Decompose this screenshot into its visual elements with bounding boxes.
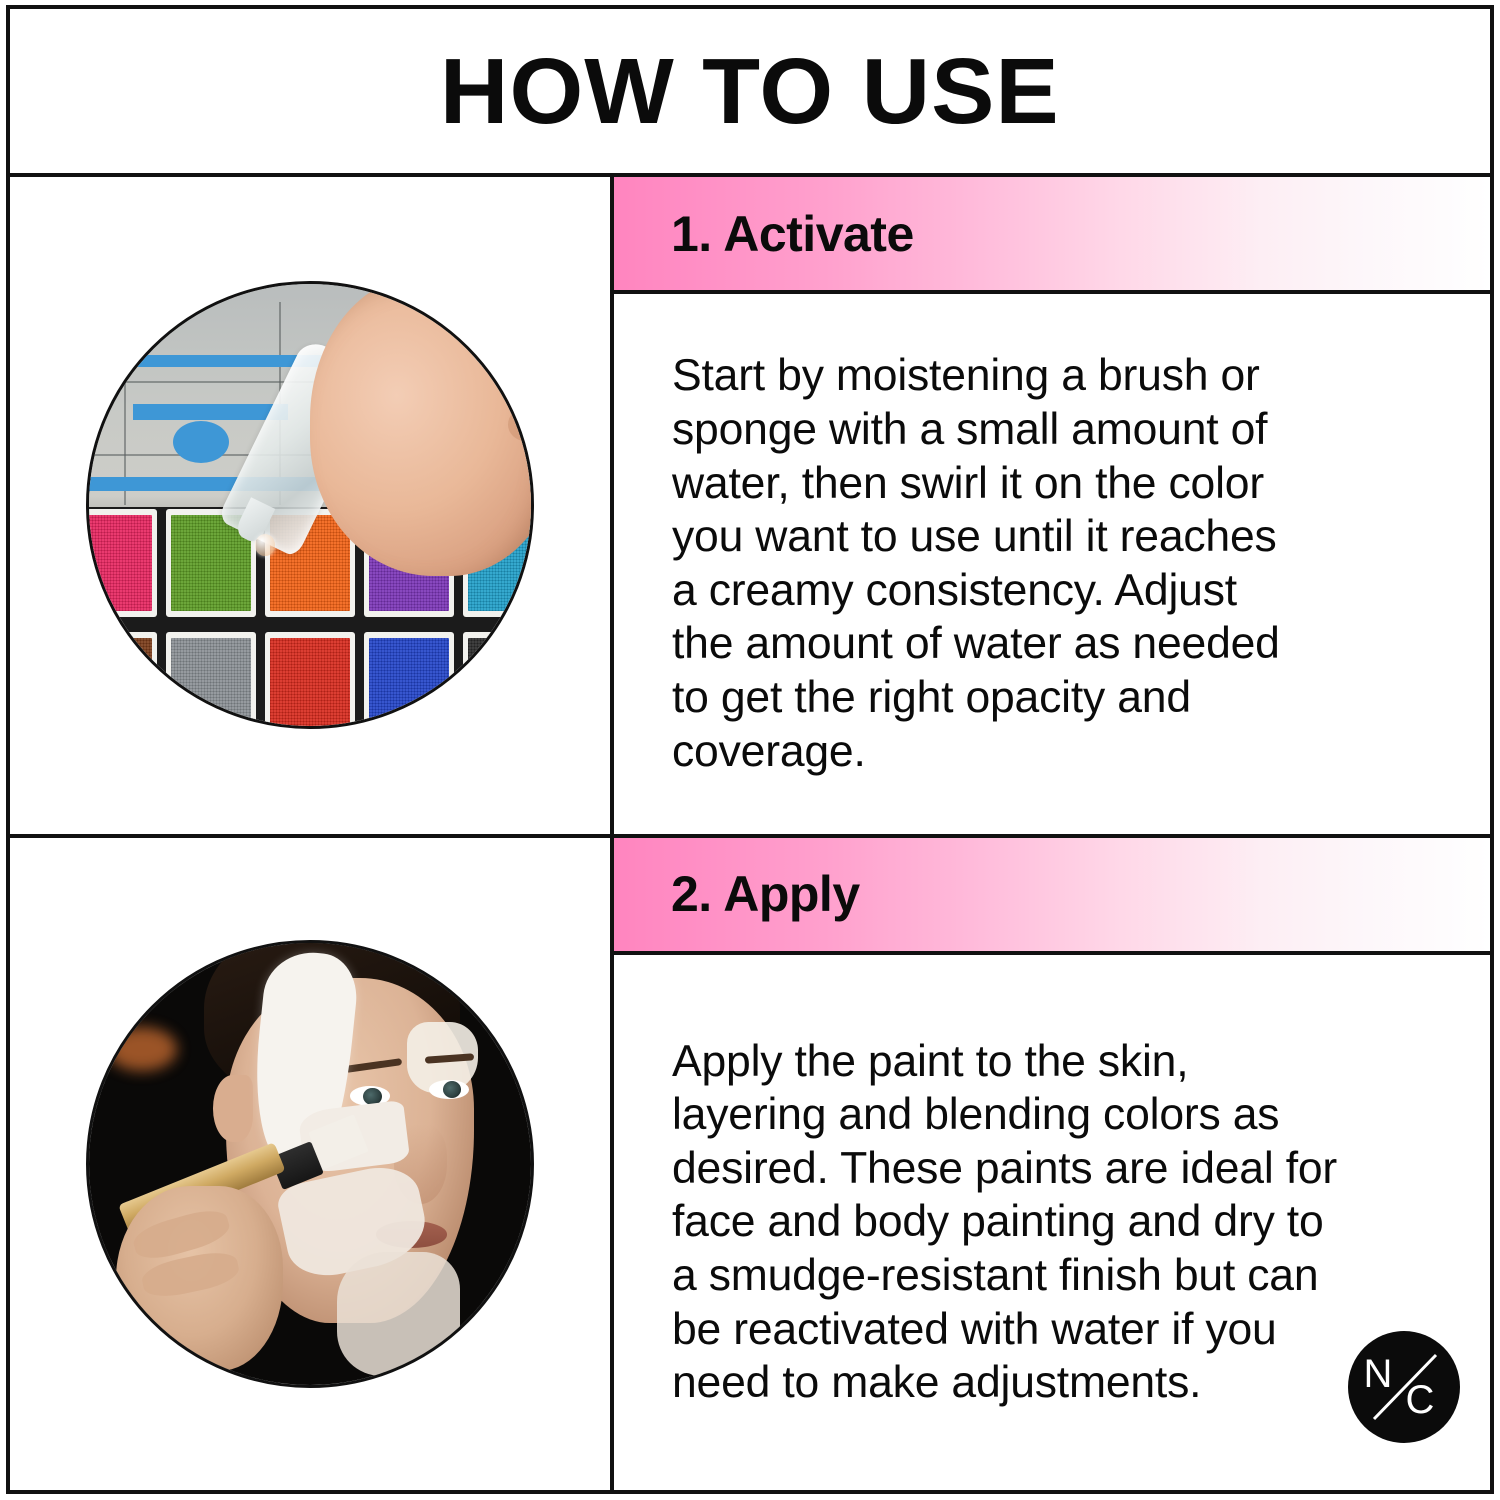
background-bokeh	[107, 1027, 178, 1071]
page-title: HOW TO USE	[440, 45, 1060, 138]
step-1-body: Start by moistening a brush or sponge wi…	[614, 294, 1490, 834]
step-2-photo-cell	[10, 838, 614, 1491]
step-row-2: 2. Apply Apply the paint to the skin, la…	[10, 834, 1490, 1491]
logo-letter-c: C	[1406, 1378, 1435, 1422]
knuckle	[478, 324, 518, 360]
steps-grid: 1. Activate Start by moistening a brush …	[10, 177, 1490, 1490]
paint-pan	[166, 632, 256, 729]
paint-pan	[86, 632, 157, 729]
logo-letter-n: N	[1364, 1352, 1393, 1396]
iris	[443, 1081, 461, 1098]
step-1-photo-cell	[10, 177, 614, 834]
step-2-label: 2. Apply	[671, 869, 860, 919]
palette-row-bottom	[86, 632, 534, 729]
activate-photo	[86, 281, 534, 729]
nc-logo: N C	[1348, 1331, 1460, 1443]
step-1-text-cell: 1. Activate Start by moistening a brush …	[614, 177, 1490, 834]
how-to-use-infographic: HOW TO USE	[6, 5, 1494, 1494]
blue-label-dot	[173, 421, 229, 463]
model-ear	[213, 1075, 253, 1141]
apply-photo	[86, 940, 534, 1388]
step-1-body-text: Start by moistening a brush or sponge wi…	[672, 349, 1280, 778]
step-row-1: 1. Activate Start by moistening a brush …	[10, 177, 1490, 834]
hand	[310, 281, 534, 576]
paint-pan	[86, 509, 157, 617]
step-1-header: 1. Activate	[614, 177, 1490, 294]
blue-label-stripe	[133, 404, 288, 420]
step-1-label: 1. Activate	[671, 209, 914, 259]
model-eye	[429, 1080, 469, 1099]
step-2-header: 2. Apply	[614, 838, 1490, 955]
white-paint-stroke	[337, 1252, 461, 1376]
paint-pan	[463, 632, 534, 729]
title-band: HOW TO USE	[10, 9, 1490, 177]
water-droplet-icon	[255, 534, 275, 556]
paint-pan	[364, 632, 454, 729]
step-2-body-text: Apply the paint to the skin, layering an…	[672, 1035, 1337, 1410]
paint-pan	[265, 632, 355, 729]
lid-seam-icon	[124, 302, 126, 505]
knuckle	[508, 408, 534, 441]
knuckle	[506, 366, 534, 402]
